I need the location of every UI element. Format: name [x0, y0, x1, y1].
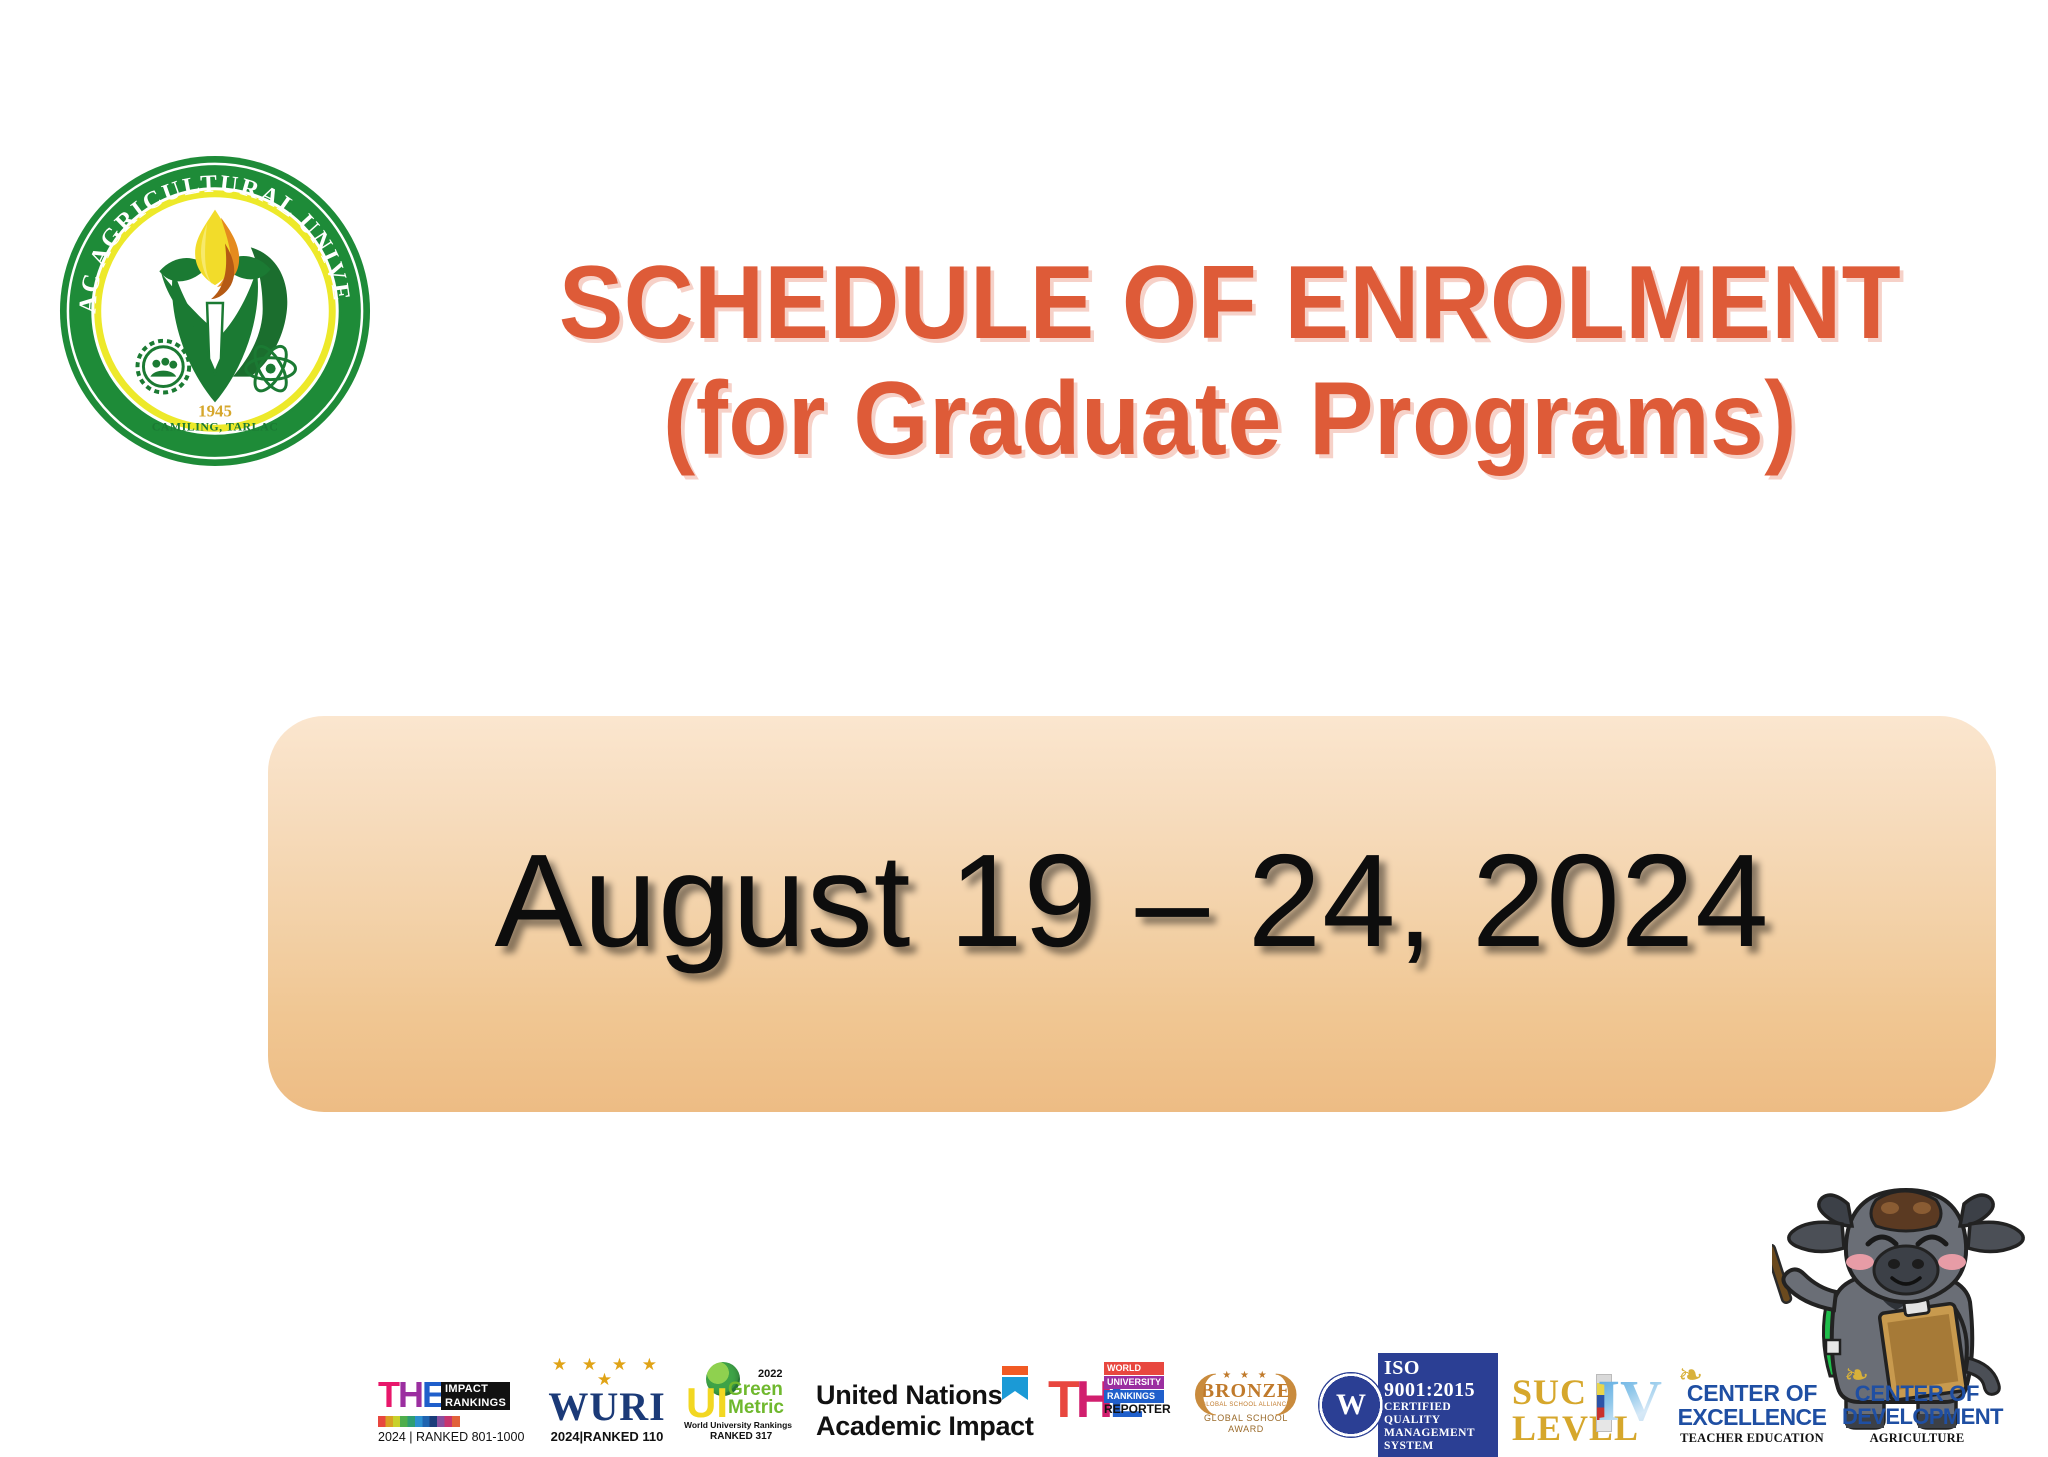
- wuri-stars-icon: ★ ★ ★ ★ ★: [544, 1357, 670, 1387]
- cod-line2: DEVELOPMENT: [1842, 1405, 1992, 1429]
- accreditation-logo-strip: T H E IMPACT RANKINGS 2024 | RANKED 801-…: [378, 1358, 1826, 1444]
- greenmetric-caption: RANKED 317: [710, 1431, 772, 1442]
- wreath-right-icon: ❨: [1267, 1366, 1306, 1420]
- accreditation-iso-9001: W ISO 9001:2015 CERTIFIED QUALITY MANAGE…: [1318, 1366, 1498, 1444]
- unai-line2: Academic Impact: [816, 1411, 1034, 1442]
- un-bookmark-icon: [1002, 1366, 1028, 1400]
- greenmetric-line2: Metric: [728, 1398, 784, 1417]
- accreditation-suc-level: SUC LEVEL IV: [1512, 1364, 1662, 1444]
- accreditation-wuri: ★ ★ ★ ★ ★ WURI 2024|RANKED 110: [544, 1357, 670, 1444]
- title-line-2: (for Graduate Programs): [505, 364, 1956, 474]
- cod-caption: AGRICULTURE: [1842, 1431, 1992, 1446]
- coe-line2: EXCELLENCE: [1676, 1405, 1828, 1429]
- wuri-caption: 2024|RANKED 110: [544, 1429, 670, 1444]
- iso-title: ISO 9001:2015: [1384, 1357, 1492, 1401]
- seal-location: CAMILING, TARLAC: [152, 419, 279, 433]
- iso-w-mark: W: [1318, 1372, 1384, 1438]
- enrolment-date-text: August 19 – 24, 2024: [494, 825, 1769, 976]
- accreditation-ui-greenmetric: UI 2022 Green Metric World University Ra…: [684, 1362, 802, 1444]
- ui-wordmark: UI: [686, 1382, 728, 1424]
- twr-letter-t: T: [1048, 1374, 1076, 1428]
- laurel-leaf-icon-2: ❧: [1844, 1358, 1869, 1393]
- iso-line1: CERTIFIED QUALITY: [1384, 1401, 1492, 1427]
- rankings-label: RANKINGS: [441, 1396, 510, 1410]
- seal-graphic: TARLAC AGRICULTURAL UNIVERSITY • PHILIPP…: [56, 152, 374, 470]
- laurel-leaf-icon: ❧: [1678, 1358, 1703, 1393]
- bronze-line2: AWARD: [1188, 1424, 1304, 1435]
- the-impact-caption: 2024 | RANKED 801-1000: [378, 1430, 530, 1444]
- twr-bar-university: UNIVERSITY: [1104, 1376, 1164, 1389]
- accreditation-the-wur-reporter: T H E WORLD UNIVERSITY RANKINGS REPORTER: [1048, 1362, 1174, 1444]
- accreditation-un-academic-impact: United Nations Academic Impact: [816, 1362, 1034, 1444]
- title-line-1: SCHEDULE OF ENROLMENT: [505, 248, 1956, 358]
- accreditation-center-of-development: ❧ CENTER OF DEVELOPMENT AGRICULTURE: [1842, 1364, 1992, 1444]
- page-title: SCHEDULE OF ENROLMENT (for Graduate Prog…: [450, 248, 2010, 474]
- seal-year: 1945: [198, 401, 232, 420]
- wreath-left-icon: ❨: [1186, 1366, 1225, 1420]
- suc-level-value: IV: [1598, 1372, 1662, 1430]
- greenmetric-sub: World University Rankings: [684, 1420, 792, 1430]
- coe-caption: TEACHER EDUCATION: [1676, 1431, 1828, 1446]
- accreditation-the-impact-rankings: T H E IMPACT RANKINGS 2024 | RANKED 801-…: [378, 1377, 530, 1444]
- the-logo-letter-t: T: [378, 1377, 398, 1415]
- wuri-wordmark: WURI: [544, 1387, 670, 1427]
- accreditation-center-of-excellence: ❧ CENTER OF EXCELLENCE TEACHER EDUCATION: [1676, 1364, 1828, 1444]
- twr-caption: REPORTER: [1104, 1402, 1171, 1416]
- the-logo-letter-h: H: [398, 1377, 422, 1415]
- twr-bar-world: WORLD: [1104, 1362, 1164, 1375]
- rainbow-bar-icon: [378, 1416, 460, 1427]
- iso-seal-icon: W: [1318, 1372, 1384, 1438]
- impact-label: IMPACT: [441, 1382, 510, 1396]
- date-panel: August 19 – 24, 2024: [268, 716, 1996, 1112]
- university-seal: TARLAC AGRICULTURAL UNIVERSITY • PHILIPP…: [56, 152, 374, 470]
- accreditation-bronze-global-school-award: ❨ ❨ ★ ★ ★ BRONZE GLOBAL SCHOOL ALLIANCE …: [1188, 1362, 1304, 1444]
- iso-line2: MANAGEMENT SYSTEM: [1384, 1427, 1492, 1453]
